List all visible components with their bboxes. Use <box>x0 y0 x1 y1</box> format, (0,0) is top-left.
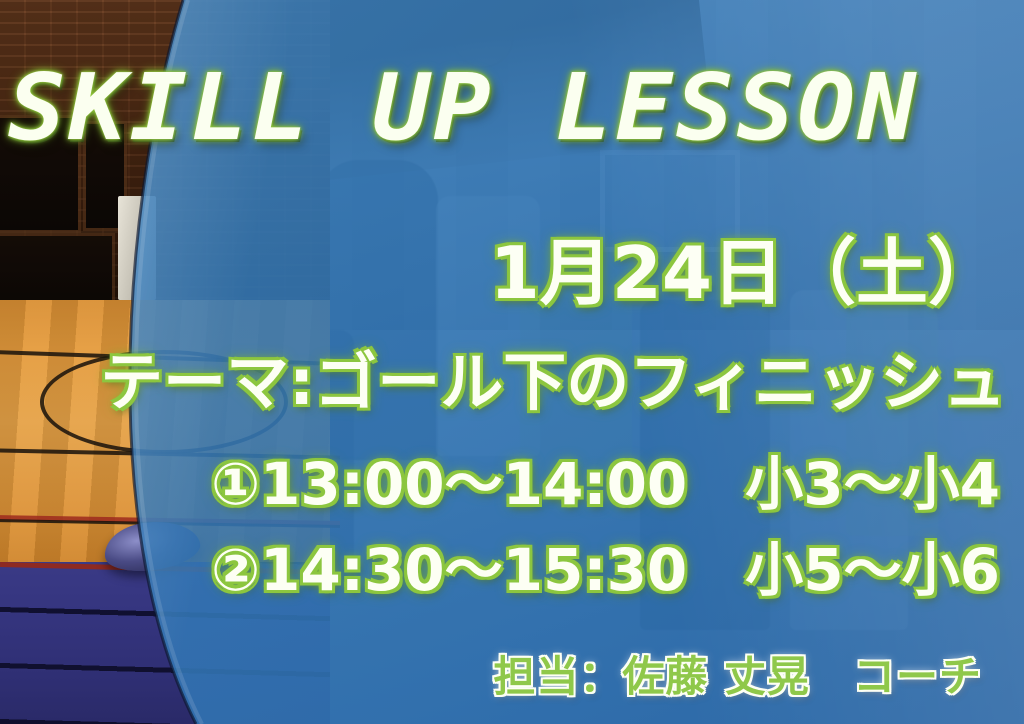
event-theme: テーマ:ゴール下のフィニッシュ <box>100 332 1006 423</box>
coach-credit: 担当：佐藤 丈晃 コーチ <box>493 643 982 704</box>
session-1-row: ①13:00〜14:00 小3〜小4 <box>211 437 1000 521</box>
poster-canvas: SKILL UP LESSON 1月24日（土） テーマ:ゴール下のフィニッシュ… <box>0 0 1024 724</box>
text-layer: SKILL UP LESSON 1月24日（土） テーマ:ゴール下のフィニッシュ… <box>0 0 1024 724</box>
event-date: 1月24日（土） <box>490 214 1000 319</box>
page-title: SKILL UP LESSON <box>8 54 919 161</box>
session-2-row: ②14:30〜15:30 小5〜小6 <box>211 523 1000 607</box>
